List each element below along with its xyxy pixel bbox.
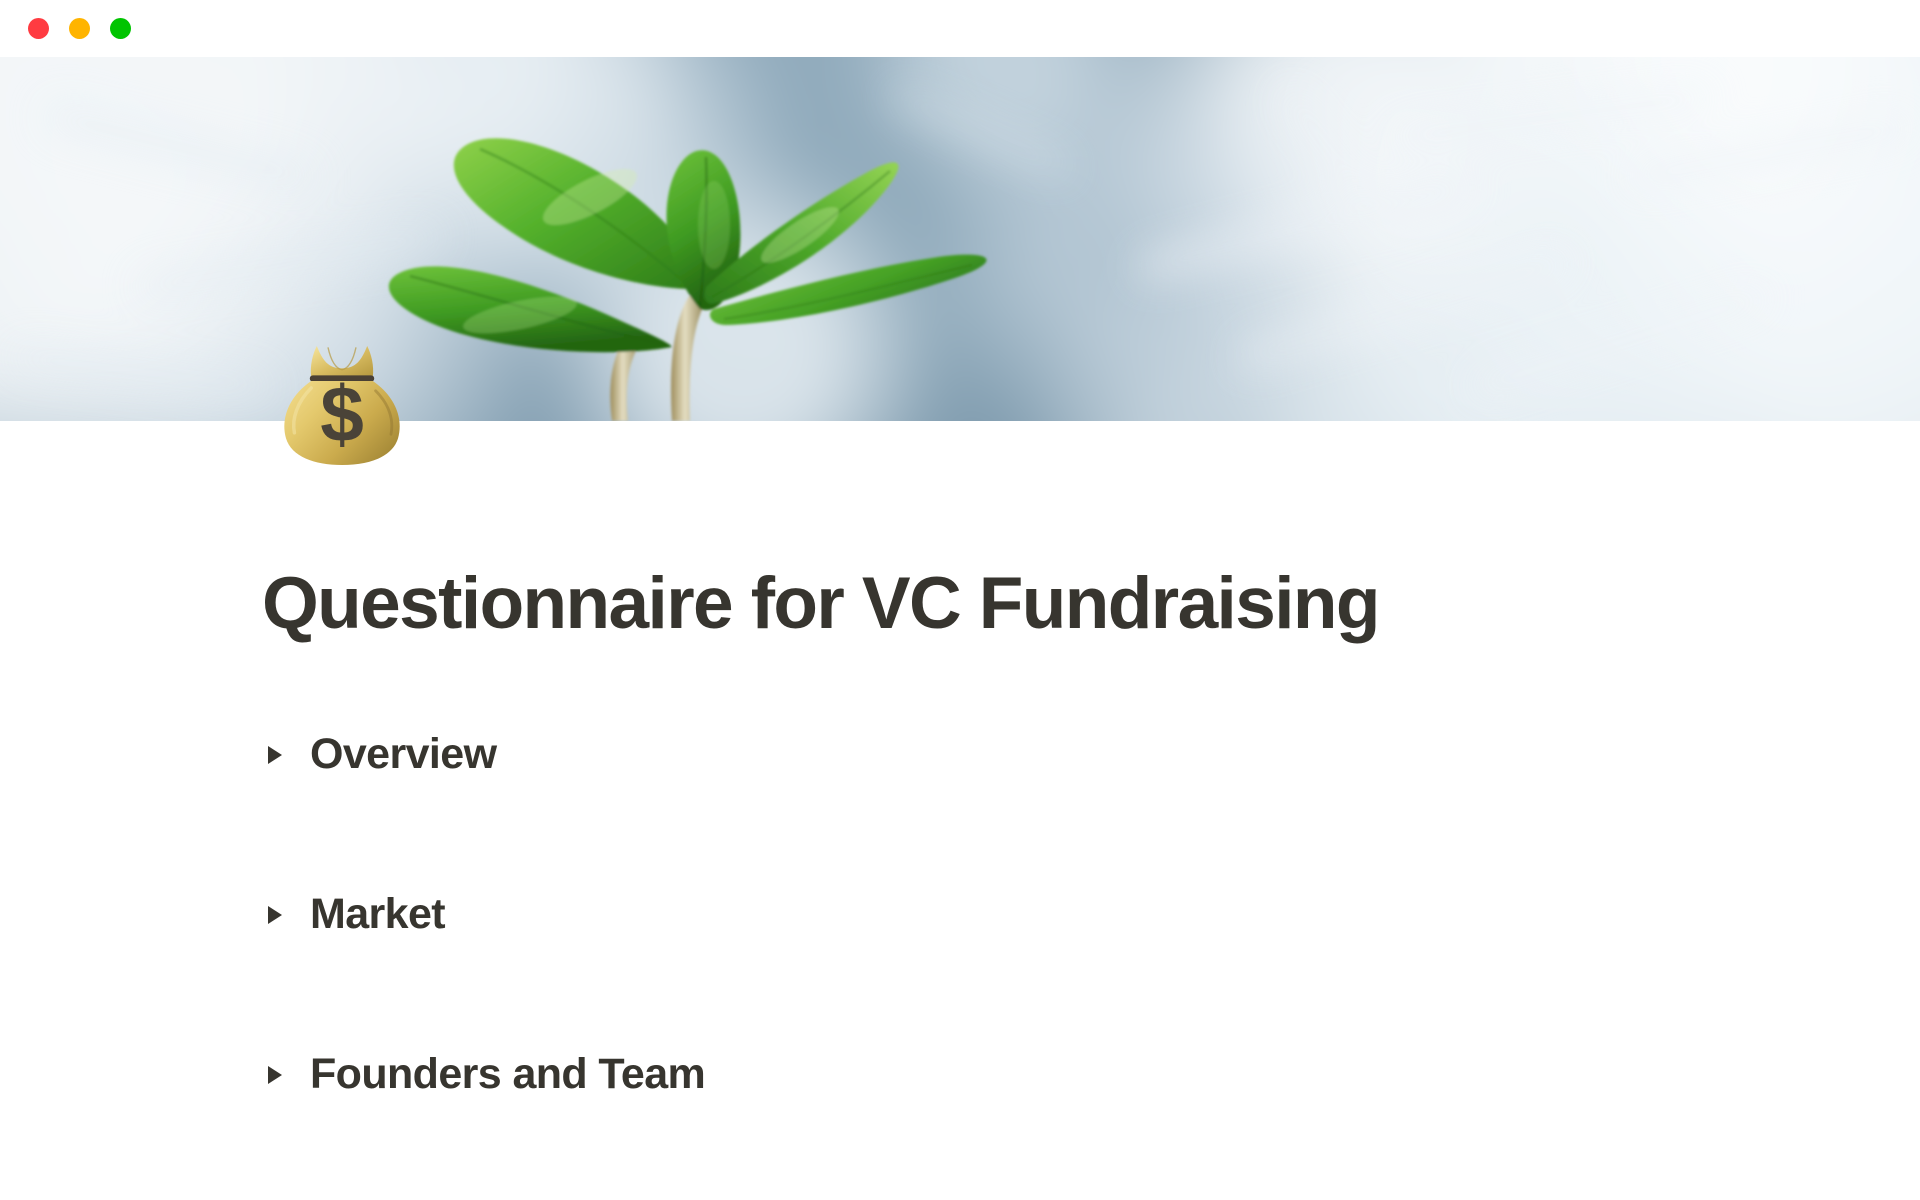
toggle-list: Overview Market bbox=[262, 728, 1662, 1102]
money-bag-icon[interactable]: $ bbox=[272, 332, 412, 472]
window-traffic-lights bbox=[28, 18, 131, 39]
window-minimize-button[interactable] bbox=[69, 18, 90, 39]
triangle-right-icon[interactable] bbox=[265, 904, 295, 926]
toggle-label-market: Market bbox=[310, 893, 445, 936]
window-titlebar bbox=[0, 0, 1920, 57]
toggle-block-market[interactable]: Market bbox=[262, 888, 1662, 942]
window-close-button[interactable] bbox=[28, 18, 49, 39]
window-zoom-button[interactable] bbox=[110, 18, 131, 39]
toggle-label-overview: Overview bbox=[310, 733, 496, 776]
triangle-right-icon[interactable] bbox=[265, 744, 295, 766]
page-title[interactable]: Questionnaire for VC Fundraising bbox=[262, 566, 1662, 643]
app-window: $ Questionnaire for VC Fundraising Overv… bbox=[0, 0, 1920, 1200]
triangle-right-icon[interactable] bbox=[265, 1064, 295, 1086]
toggle-block-founders-and-team[interactable]: Founders and Team bbox=[262, 1048, 1662, 1102]
page-content: Questionnaire for VC Fundraising Overvie… bbox=[0, 421, 1920, 1200]
money-bag-emoji-glyph: $ bbox=[272, 332, 412, 472]
svg-text:$: $ bbox=[320, 370, 364, 458]
toggle-label-founders-and-team: Founders and Team bbox=[310, 1053, 705, 1096]
toggle-block-overview[interactable]: Overview bbox=[262, 728, 1662, 782]
